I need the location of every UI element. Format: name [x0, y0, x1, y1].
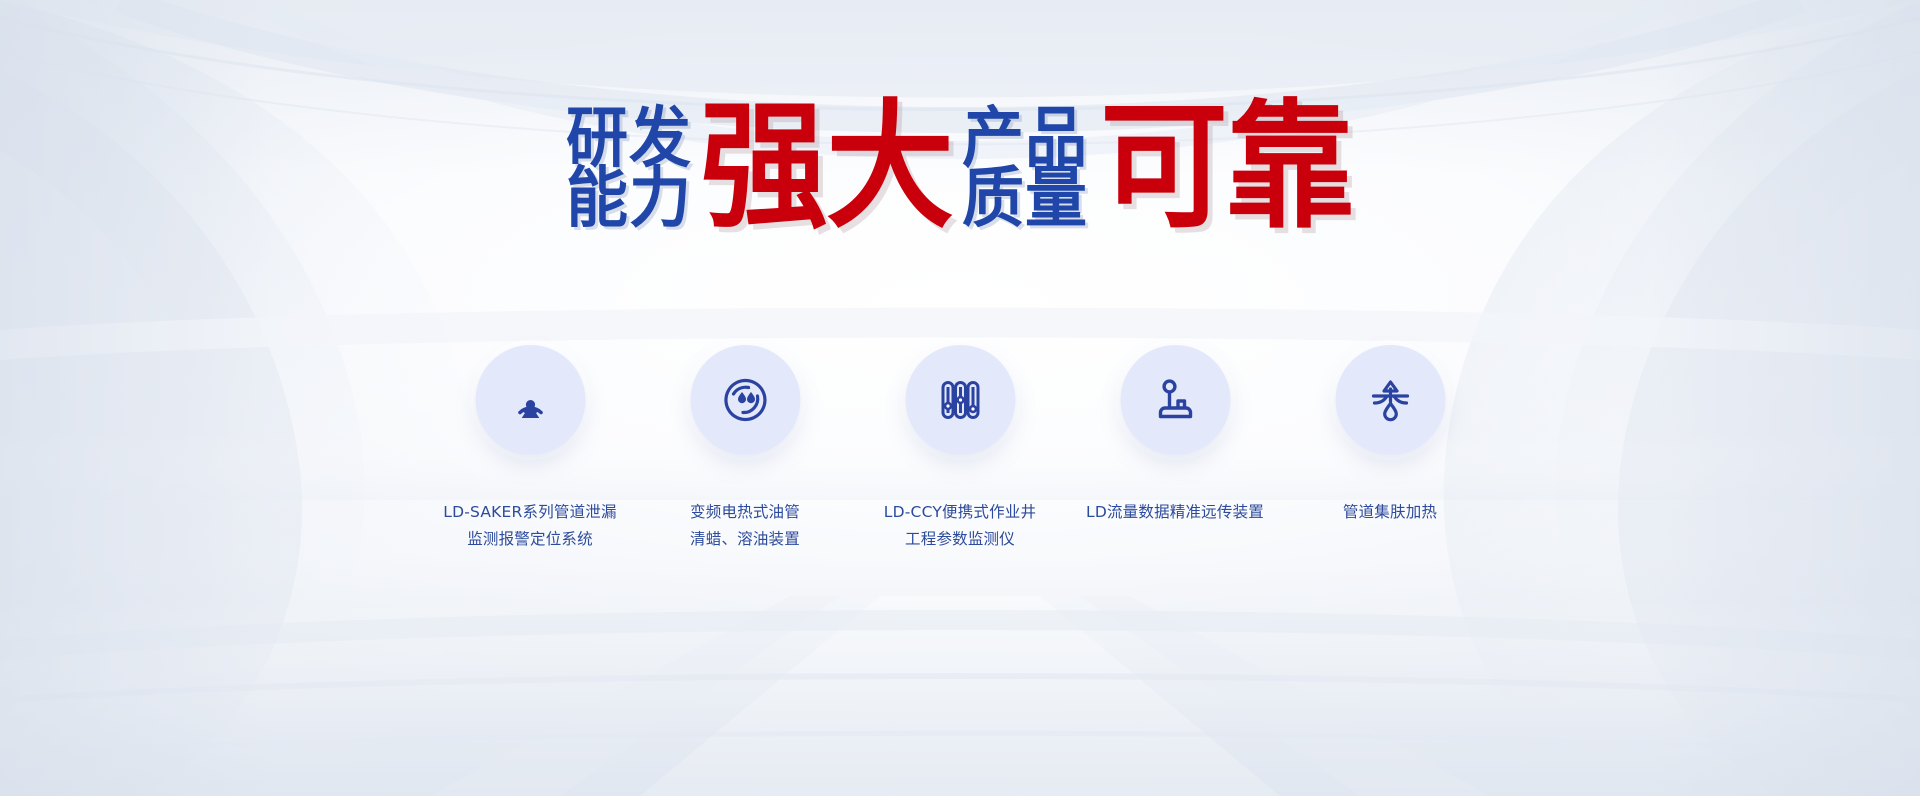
feature-label: 管道集肤加热: [1284, 499, 1496, 526]
feature-item-well-monitor[interactable]: LD-CCY便携式作业井 工程参数监测仪: [853, 345, 1068, 553]
feature-label-line1: LD-CCY便携式作业井: [884, 503, 1036, 521]
feature-label-line1: LD-SAKER系列管道泄漏: [443, 503, 616, 521]
hero-banner: 研发 能力 强大 产品 质量 可靠 LD-SAKER系列管道泄漏: [0, 0, 1920, 796]
icon-circle[interactable]: [475, 345, 585, 455]
feature-item-oil-heating[interactable]: 变频电热式油管 清蜡、溶油装置: [638, 345, 853, 553]
feature-row: LD-SAKER系列管道泄漏 监测报警定位系统: [423, 345, 1498, 553]
oil-droplet-recycle-icon: [717, 372, 773, 428]
icon-circle[interactable]: [905, 345, 1015, 455]
feature-label-line2: 工程参数监测仪: [854, 526, 1066, 553]
signal-broadcast-icon: [502, 372, 558, 428]
icon-circle[interactable]: [1120, 345, 1230, 455]
feature-item-skin-heating[interactable]: 管道集肤加热: [1283, 345, 1498, 526]
icon-circle[interactable]: [690, 345, 800, 455]
icon-circle[interactable]: [1335, 345, 1445, 455]
feature-item-leak-detection[interactable]: LD-SAKER系列管道泄漏 监测报警定位系统: [423, 345, 638, 553]
feature-label-line2: 监测报警定位系统: [424, 526, 636, 553]
feature-label: LD-SAKER系列管道泄漏 监测报警定位系统: [424, 499, 636, 553]
heat-arrow-droplet-icon: [1362, 372, 1418, 428]
feature-label-line1: LD流量数据精准远传装置: [1086, 503, 1264, 521]
feature-label: 变频电热式油管 清蜡、溶油装置: [639, 499, 851, 553]
vertical-sliders-icon: [932, 372, 988, 428]
feature-item-flow-telemetry[interactable]: LD流量数据精准远传装置: [1068, 345, 1283, 526]
feature-label-line2: 清蜡、溶油装置: [639, 526, 851, 553]
feature-label: LD-CCY便携式作业井 工程参数监测仪: [854, 499, 1066, 553]
feature-label-line1: 管道集肤加热: [1343, 503, 1437, 521]
feature-label-line1: 变频电热式油管: [690, 503, 800, 521]
joystick-transmitter-icon: [1147, 372, 1203, 428]
feature-label: LD流量数据精准远传装置: [1069, 499, 1281, 526]
